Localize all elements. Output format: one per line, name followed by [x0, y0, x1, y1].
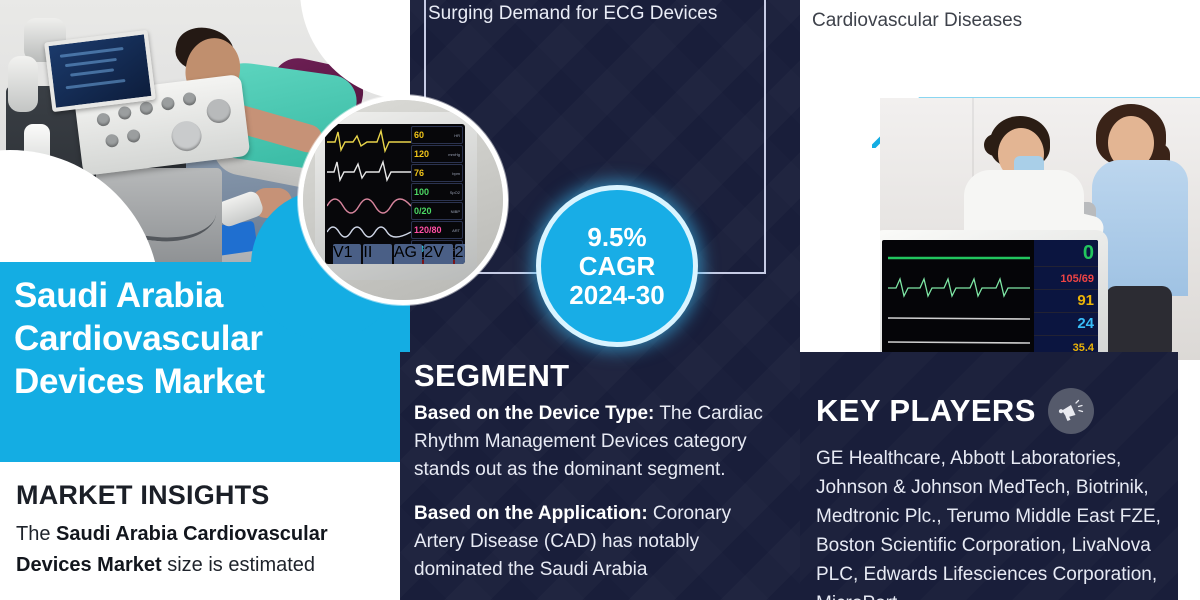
market-insights-heading: MARKET INSIGHTS [16, 480, 396, 511]
monitor-button[interactable]: 2V [424, 244, 452, 264]
vital-row: 0/20NIBP [411, 202, 463, 220]
monitor-button-row[interactable]: V1 II AG 2V 2P [333, 244, 465, 264]
vital-unit: HR [454, 133, 460, 138]
vital-row: 60HR [411, 126, 463, 144]
market-insights-block: MARKET INSIGHTS The Saudi Arabia Cardiov… [16, 480, 396, 581]
monitor-button[interactable]: 2P [455, 244, 465, 264]
bedside-readout-panel: 0 105/69 91 24 35.4 [1034, 240, 1098, 360]
vital-value: 120 [414, 150, 429, 159]
cagr-value: 9.5% [587, 223, 646, 252]
ultrasound-screen [44, 30, 156, 112]
vital-unit: ART [452, 228, 460, 233]
bedside-readout: 24 [1077, 315, 1094, 332]
megaphone-glyph [1057, 397, 1085, 425]
vital-value: 0/20 [414, 207, 432, 216]
right-top-headline-text: Cardiovascular Diseases [812, 7, 1192, 34]
vital-row: 120/80ART [411, 221, 463, 239]
vital-value: 76 [414, 169, 424, 178]
market-insights-text: The Saudi Arabia Cardiovascular Devices … [16, 519, 396, 581]
insights-lead: The [16, 523, 56, 545]
bedside-waveforms [886, 246, 1032, 354]
vital-row: 120mmHg [411, 145, 463, 163]
right-top-headline: Cardiovascular Diseases [812, 0, 1192, 34]
insights-tail: size is estimated [162, 554, 315, 576]
key-players-heading: KEY PLAYERS [816, 393, 1036, 429]
vital-value: 60 [414, 131, 424, 140]
vital-unit: bpm [452, 171, 460, 176]
segment-block: SEGMENT Based on the Device Type: The Ca… [414, 358, 784, 600]
vital-value: 100 [414, 188, 429, 197]
infographic-page: Saudi Arabia Cardiovascular Devices Mark… [0, 0, 1200, 600]
vital-row: 76bpm [411, 164, 463, 182]
key-players-block: KEY PLAYERS GE Healthcare, Abbott Lab [816, 388, 1172, 600]
key-players-text: GE Healthcare, Abbott Laboratories, John… [816, 444, 1172, 600]
right-column: Cardiovascular Diseases [800, 0, 1200, 600]
monitor-vitals-list: 60HR 120mmHg 76bpm 100SpO2 0/20NIBP 120/… [411, 126, 463, 262]
left-column: Saudi Arabia Cardiovascular Devices Mark… [0, 0, 400, 600]
monitor-screen: 60HR 120mmHg 76bpm 100SpO2 0/20NIBP 120/… [325, 124, 465, 264]
segment-label-application: Based on the Application: [414, 503, 648, 524]
vital-value: 120/80 [414, 226, 442, 235]
monitor-button[interactable]: V1 [333, 244, 361, 264]
trend-headline-text: Surging Demand for ECG Devices [402, 0, 798, 27]
cagr-period: 2024-30 [569, 281, 664, 310]
patient-monitor-photo: 60HR 120mmHg 76bpm 100SpO2 0/20NIBP 120/… [298, 95, 508, 305]
vital-unit: NIBP [451, 209, 460, 214]
bedside-readout: 0 [1083, 243, 1094, 263]
vital-unit: mmHg [448, 152, 460, 157]
key-players-header: KEY PLAYERS [816, 388, 1172, 434]
segment-heading: SEGMENT [414, 358, 784, 394]
segment-item-application: Based on the Application: Coronary Arter… [414, 500, 784, 584]
cagr-label: CAGR [579, 252, 656, 281]
bedside-readout: 91 [1077, 292, 1094, 309]
ecg-waveforms [327, 126, 411, 246]
monitor-button[interactable]: AG [394, 244, 422, 264]
consultation-photo: 0 105/69 91 24 35.4 [880, 98, 1200, 360]
cagr-badge: 9.5% CAGR 2024-30 [536, 185, 698, 347]
segment-item-device-type: Based on the Device Type: The Cardiac Rh… [414, 400, 784, 484]
bedside-readout: 105/69 [1060, 273, 1094, 285]
ultrasound-probe-2 [8, 56, 38, 112]
monitor-button[interactable]: II [363, 244, 391, 264]
megaphone-icon [1048, 388, 1094, 434]
trend-headline: Surging Demand for ECG Devices [402, 0, 798, 27]
vital-unit: SpO2 [450, 190, 460, 195]
segment-label-device-type: Based on the Device Type: [414, 403, 654, 424]
bedside-monitor-screen: 0 105/69 91 24 35.4 [882, 240, 1098, 360]
bedside-monitor: 0 105/69 91 24 35.4 [880, 230, 1108, 360]
vital-row: 100SpO2 [411, 183, 463, 201]
patient-trousers [1106, 286, 1172, 360]
monitor-casing: 60HR 120mmHg 76bpm 100SpO2 0/20NIBP 120/… [315, 112, 477, 280]
